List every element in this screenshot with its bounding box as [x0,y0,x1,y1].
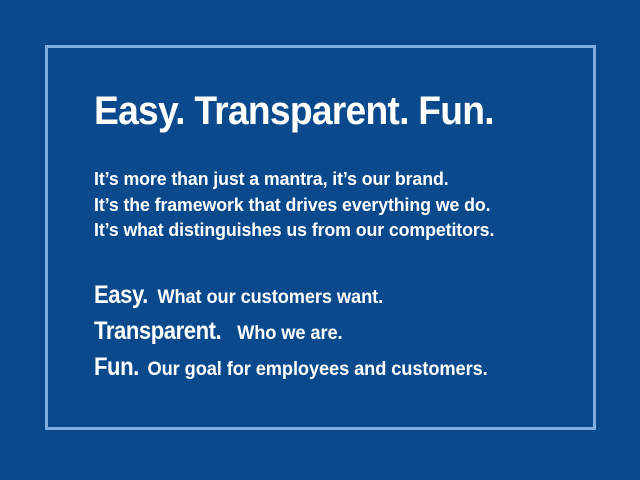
brand-mantra-slide: Easy. Transparent. Fun. It’s more than j… [0,0,640,480]
slide-content: Easy. Transparent. Fun. It’s more than j… [94,88,564,387]
value-key-transparent: Transparent. [94,315,221,348]
value-key-fun: Fun. [94,351,139,384]
intro-line-3: It’s what distinguishes us from our comp… [94,217,545,243]
page-title: Easy. Transparent. Fun. [94,88,531,134]
value-statement-easy: Easy.What our customers want. [94,279,545,315]
value-description-easy: What our customers want. [157,287,383,308]
intro-line-1: It’s more than just a mantra, it’s our b… [94,166,545,192]
value-key-easy: Easy. [94,279,148,312]
value-statement-fun: Fun.Our goal for employees and customers… [94,351,545,387]
value-statement-transparent: Transparent.Who we are. [94,315,545,351]
value-description-transparent: Who we are. [237,323,342,344]
intro-line-2: It’s the framework that drives everythin… [94,192,545,218]
value-statement-list: Easy.What our customers want. Transparen… [94,279,564,387]
intro-paragraph: It’s more than just a mantra, it’s our b… [94,166,564,243]
value-description-fun: Our goal for employees and customers. [148,359,488,380]
